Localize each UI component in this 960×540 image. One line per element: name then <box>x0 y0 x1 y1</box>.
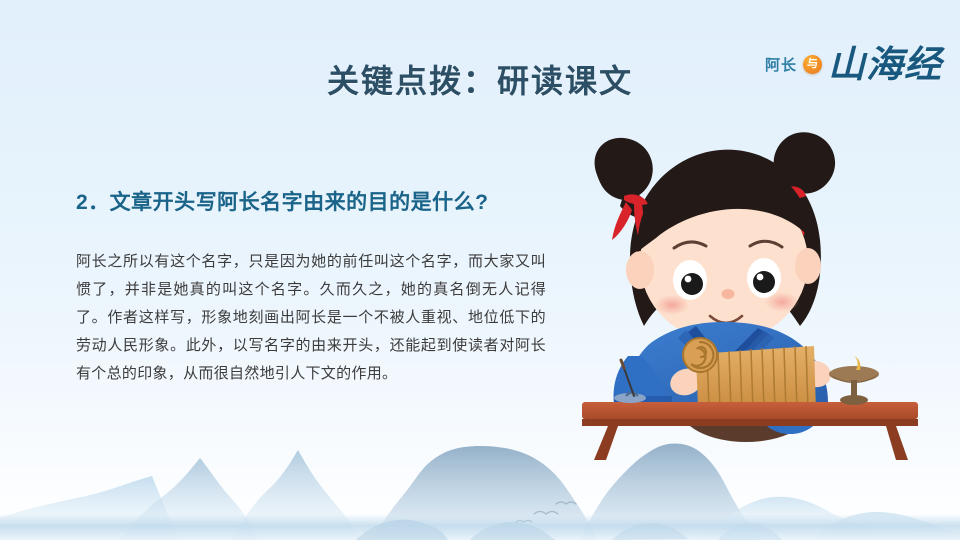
course-logo: 阿长 与 山海经 <box>765 40 942 88</box>
oil-lamp <box>829 356 879 405</box>
bird-flock-icon <box>516 502 576 522</box>
question-heading: 2．文章开头写阿长名字由来的目的是什么? <box>76 186 489 216</box>
logo-prefix-text: 阿长 <box>765 54 797 75</box>
logo-main-text: 山海经 <box>828 46 942 83</box>
scroll-roll <box>683 338 717 372</box>
cheek-left <box>655 295 689 315</box>
child-reading-illustration <box>568 130 948 460</box>
water-line <box>0 514 960 540</box>
logo-conjunction-badge: 与 <box>803 55 822 74</box>
nose <box>722 289 735 299</box>
ear-right <box>795 248 821 284</box>
ear-left <box>626 251 654 289</box>
cheek-right <box>765 292 799 312</box>
answer-paragraph: 阿长之所以有这个名字，只是因为她的前任叫这个名字，而大家又叫惯了，并非是她真的叫… <box>76 248 546 388</box>
slide-root: 关键点拨：研读课文 阿长 与 山海经 2．文章开头写阿长名字由来的目的是什么? … <box>0 0 960 540</box>
